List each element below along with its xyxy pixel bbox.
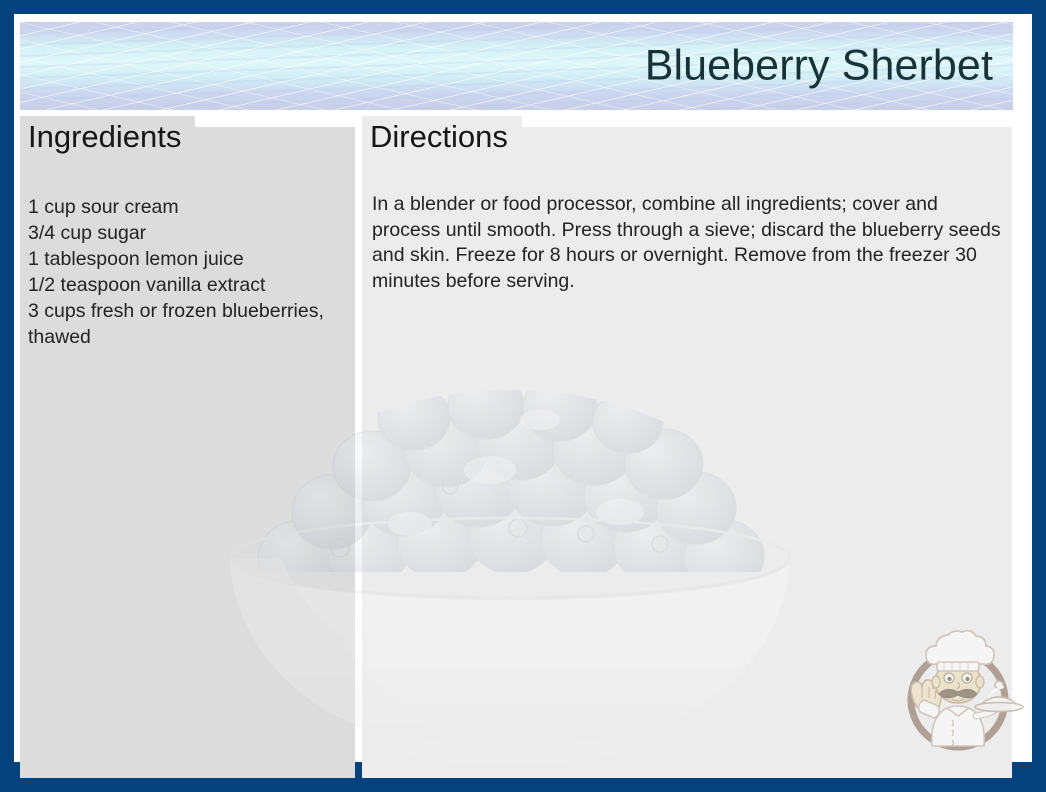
- page-title: Blueberry Sherbet: [645, 42, 993, 91]
- list-item: 1 cup sour cream: [28, 194, 350, 220]
- list-item: 1/2 teaspoon vanilla extract: [28, 272, 350, 298]
- list-item: 3 cups fresh or frozen blueberries, thaw…: [28, 298, 350, 350]
- ingredients-panel: Ingredients 1 cup sour cream 3/4 cup sug…: [20, 127, 355, 778]
- header-banner: Blueberry Sherbet: [20, 22, 1013, 110]
- list-item: 3/4 cup sugar: [28, 220, 350, 246]
- chef-mascot-logo: [892, 624, 1024, 756]
- list-item: 1 tablespoon lemon juice: [28, 246, 350, 272]
- recipe-card: Blueberry Sherbet Ingredients 1 cup sour…: [14, 14, 1032, 762]
- ingredients-heading: Ingredients: [20, 116, 195, 157]
- ingredients-list: 1 cup sour cream 3/4 cup sugar 1 tablesp…: [28, 194, 350, 350]
- directions-body-text: In a blender or food processor, combine …: [372, 192, 1004, 294]
- directions-heading: Directions: [362, 116, 522, 157]
